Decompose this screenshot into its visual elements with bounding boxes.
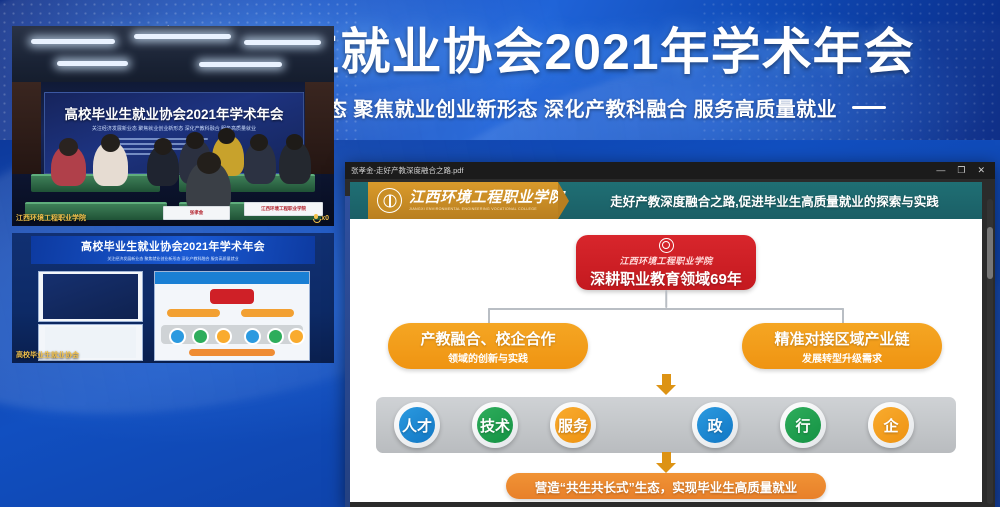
circle-label: 行 bbox=[785, 407, 821, 443]
ceiling-light bbox=[134, 34, 231, 39]
pdf-scrollbar-thumb[interactable] bbox=[987, 227, 993, 279]
circle-label: 服务 bbox=[555, 407, 591, 443]
stage-screen-subtitle: 关注经济发展新业态 聚焦就业创业新形态 深化产教科融合 服务高质量就业 bbox=[45, 125, 303, 132]
ceiling-light bbox=[31, 39, 115, 44]
slide-header: 江西环境工程职业学院 JIANGXI ENVIRONMENTAL ENGINEE… bbox=[350, 182, 982, 219]
attendee-head bbox=[59, 138, 78, 156]
video-tile-label-top: 江西环境工程职业学院 bbox=[16, 213, 86, 223]
attendee-head bbox=[101, 134, 120, 152]
ceiling-light bbox=[57, 61, 128, 66]
connector-horizontal bbox=[488, 308, 844, 310]
stage-screen-title: 高校毕业生就业协会2021年学术年会 bbox=[45, 103, 303, 123]
college-seal-icon bbox=[377, 188, 402, 213]
pill-right: 精准对接区域产业链 发展转型升级需求 bbox=[742, 323, 942, 369]
connector-vertical bbox=[665, 290, 667, 308]
mini-root-node bbox=[210, 289, 253, 303]
circle-fuwu: 服务 bbox=[550, 402, 596, 448]
video-mic-indicator[interactable]: x0 bbox=[312, 214, 329, 223]
attendee-head bbox=[186, 132, 204, 149]
mini-pill-right bbox=[241, 309, 294, 317]
attendee-head bbox=[154, 138, 172, 155]
circle-qi: 企 bbox=[868, 402, 914, 448]
circle-label: 政 bbox=[697, 407, 733, 443]
pdf-scrollbar[interactable] bbox=[987, 199, 993, 504]
pill-left: 产教融合、校企合作 领域的创新与实践 bbox=[388, 323, 588, 369]
nameplate-speaker: 张孝金 bbox=[163, 206, 229, 220]
college-logo-plate: 江西环境工程职业学院 JIANGXI ENVIRONMENTAL ENGINEE… bbox=[368, 182, 558, 219]
circle-label: 技术 bbox=[477, 407, 513, 443]
window-titlebar[interactable]: 张孝金-走好产教深度融合之路.pdf — ❐ ✕ bbox=[345, 162, 995, 179]
circle-jishu: 技术 bbox=[472, 402, 518, 448]
outcome-pill: 营造“共生共长式”生态，实现毕业生高质量就业 bbox=[506, 473, 826, 499]
attendee-head bbox=[286, 134, 303, 150]
mini-circle bbox=[192, 328, 209, 345]
circle-zheng: 政 bbox=[692, 402, 738, 448]
slide-title: 走好产教深度融合之路,促进毕业生高质量就业的探索与实践 bbox=[575, 182, 974, 219]
mini-bottom-pill bbox=[189, 349, 276, 356]
ceiling bbox=[12, 26, 334, 86]
arrow-down-icon bbox=[656, 374, 676, 395]
window-controls: — ❐ ✕ bbox=[936, 166, 985, 175]
room-banner-title: 高校毕业生就业协会2021年学术年会 bbox=[81, 238, 265, 254]
circle-rencai: 人才 bbox=[394, 402, 440, 448]
mini-circle bbox=[288, 328, 305, 345]
mini-circle bbox=[169, 328, 186, 345]
ceiling-light bbox=[244, 40, 321, 45]
monitor-left-top-content bbox=[43, 274, 138, 319]
close-icon[interactable]: ✕ bbox=[977, 166, 985, 175]
arrow-down-icon-2 bbox=[656, 452, 676, 473]
room-banner-subtitle: 关注经济发展新业态 聚焦就业创业新形态 深化产教科融合 服务高质量就业 bbox=[107, 256, 238, 262]
mini-slide-header bbox=[155, 272, 310, 284]
video-tile-presentation-room[interactable]: 高校毕业生就业协会2021年学术年会 关注经济发展新业态 聚焦就业创业新形态 深… bbox=[12, 233, 334, 363]
restore-icon[interactable]: ❐ bbox=[957, 166, 965, 175]
circle-label: 企 bbox=[873, 407, 909, 443]
college-name-en: JIANGXI ENVIRONMENTAL ENGINEERING VOCATI… bbox=[409, 207, 564, 211]
pill-right-sub: 发展转型升级需求 bbox=[802, 350, 882, 365]
college-name-cn: 江西环境工程职业学院 bbox=[409, 190, 564, 206]
pill-right-main: 精准对接区域产业链 bbox=[774, 328, 909, 349]
slide-diagram: 江西环境工程职业学院 深耕职业教育领域69年 产教融合、校企合作 领域的创新与实… bbox=[350, 219, 982, 502]
banner-rule-right bbox=[852, 106, 886, 109]
nameplate-institution: 江西环境工程职业学院 bbox=[244, 202, 323, 216]
window-filename: 张孝金-走好产教深度融合之路.pdf bbox=[351, 165, 464, 176]
root-node: 江西环境工程职业学院 深耕职业教育领域69年 bbox=[576, 235, 756, 290]
root-node-college: 江西环境工程职业学院 bbox=[619, 254, 712, 267]
root-node-text: 深耕职业教育领域69年 bbox=[590, 268, 742, 289]
side-wall-left bbox=[12, 82, 41, 174]
video-tile-conference-room[interactable]: 高校毕业生就业协会2021年学术年会 关注经济发展新业态 聚焦就业创业新形态 深… bbox=[12, 26, 334, 226]
video-frame-bottom: 高校毕业生就业协会2021年学术年会 关注经济发展新业态 聚焦就业创业新形态 深… bbox=[12, 233, 334, 363]
outcome-pill-text: 营造“共生共长式”生态，实现毕业生高质量就业 bbox=[535, 477, 798, 496]
circle-hang: 行 bbox=[780, 402, 826, 448]
mic-count: x0 bbox=[321, 215, 329, 222]
pill-left-sub: 领域的创新与实践 bbox=[448, 350, 528, 365]
root-node-seal-icon bbox=[659, 238, 674, 253]
video-tile-label-bottom: 高校毕业生就业协会 bbox=[16, 350, 79, 360]
circle-label: 人才 bbox=[399, 407, 435, 443]
minimize-icon[interactable]: — bbox=[936, 166, 945, 175]
pill-left-main: 产教融合、校企合作 bbox=[420, 328, 555, 349]
room-banner: 高校毕业生就业协会2021年学术年会 关注经济发展新业态 聚焦就业创业新形态 深… bbox=[31, 236, 314, 265]
video-frame-top: 高校毕业生就业协会2021年学术年会 关注经济发展新业态 聚焦就业创业新形态 深… bbox=[12, 26, 334, 226]
slide-page: 江西环境工程职业学院 JIANGXI ENVIRONMENTAL ENGINEE… bbox=[350, 182, 982, 502]
pdf-viewer-window[interactable]: 张孝金-走好产教深度融合之路.pdf — ❐ ✕ 江西环境工程职业学院 JIAN… bbox=[345, 162, 995, 507]
microphone-icon bbox=[312, 214, 319, 223]
ceiling-light bbox=[199, 62, 283, 67]
mini-pill-left bbox=[167, 309, 220, 317]
college-logo-text: 江西环境工程职业学院 JIANGXI ENVIRONMENTAL ENGINEE… bbox=[409, 190, 564, 212]
monitor-main-slide bbox=[154, 271, 311, 361]
monitor-left-top bbox=[38, 271, 143, 322]
pdf-document-area[interactable]: 江西环境工程职业学院 JIANGXI ENVIRONMENTAL ENGINEE… bbox=[345, 179, 995, 507]
